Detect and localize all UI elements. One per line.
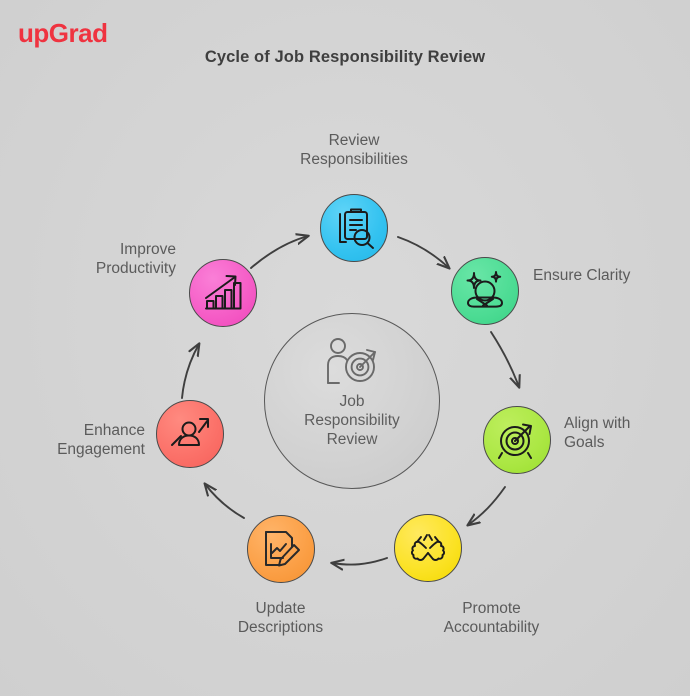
arrow-clarity-to-align (491, 332, 519, 387)
node-improve-productivity[interactable] (189, 259, 257, 327)
node-label-review-responsibilities: Review Responsibilities (264, 131, 444, 169)
node-review-responsibilities[interactable] (320, 194, 388, 262)
node-ensure-clarity[interactable] (451, 257, 519, 325)
arrow-engagement-to-productivity (182, 344, 199, 398)
arrow-productivity-to-review (251, 236, 308, 268)
node-label-enhance-engagement: Enhance Engagement (10, 421, 145, 459)
node-label-promote-accountability: Promote Accountability (389, 599, 594, 637)
hub-label: Job Responsibility Review (304, 392, 400, 450)
node-enhance-engagement[interactable] (156, 400, 224, 468)
sparkle-meditation-icon (463, 269, 507, 313)
node-label-improve-productivity: Improve Productivity (36, 240, 176, 278)
person-growth-arrow-icon (168, 412, 212, 456)
clipboard-magnifier-icon (332, 206, 376, 250)
target-arrow-icon (495, 418, 539, 462)
node-label-update-descriptions: Update Descriptions (178, 599, 383, 637)
node-update-descriptions[interactable] (247, 515, 315, 583)
person-target-icon (321, 336, 383, 388)
arrow-review-to-clarity (398, 237, 449, 268)
node-align-with-goals[interactable] (483, 406, 551, 474)
node-label-align-with-goals: Align with Goals (564, 414, 684, 452)
handshake-icon (406, 526, 450, 570)
arrow-update-to-engagement (205, 484, 244, 518)
document-pencil-icon (259, 527, 303, 571)
arrow-align-to-accountability (468, 487, 505, 525)
arrow-accountability-to-update (332, 558, 387, 565)
bar-chart-growth-icon (201, 271, 245, 315)
node-promote-accountability[interactable] (394, 514, 462, 582)
hub-circle: Job Responsibility Review (264, 313, 440, 489)
node-label-ensure-clarity: Ensure Clarity (533, 266, 683, 285)
cycle-diagram: Job Responsibility Review Review Respons… (0, 0, 690, 696)
